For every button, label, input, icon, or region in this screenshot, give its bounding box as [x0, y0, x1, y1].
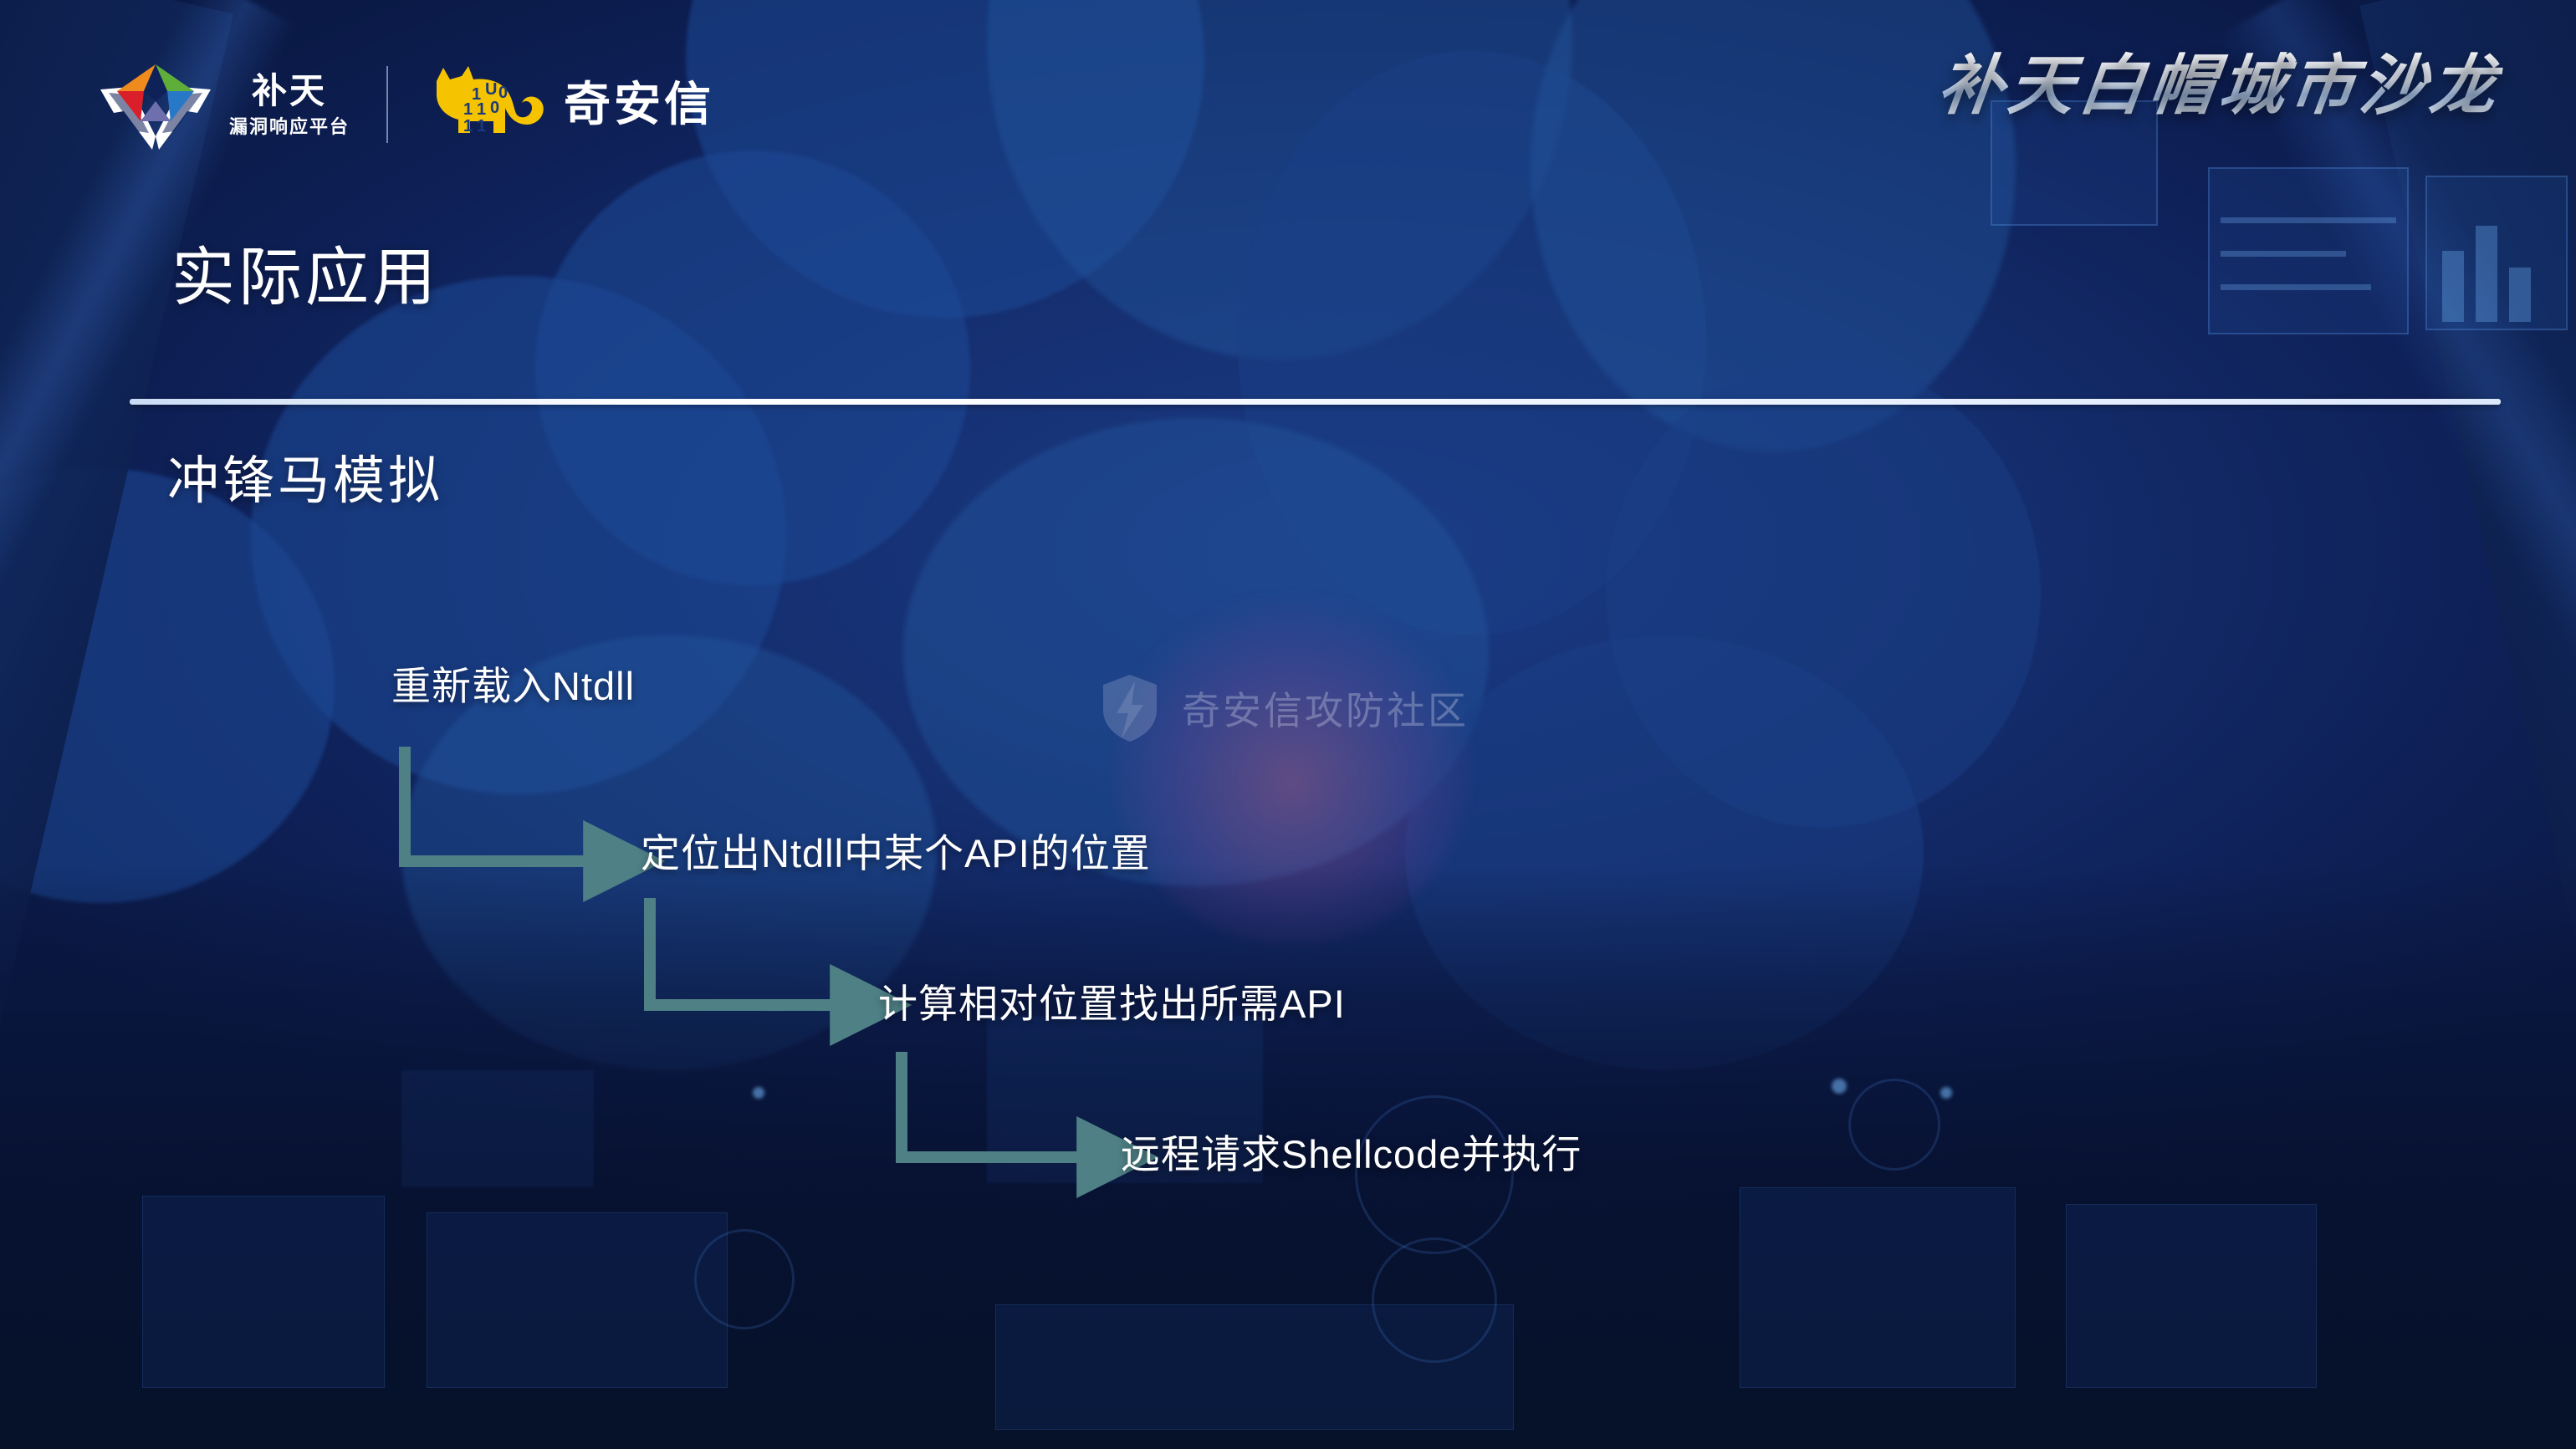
slide-root: 补天 漏洞响应平台 1 U 0 1 1 0 1 1 奇安信 [0, 0, 2576, 1449]
flow-step-3: 计算相对位置找出所需API [878, 981, 1346, 1028]
flow-step-2: 定位出Ntdll中某个API的位置 [641, 830, 1151, 877]
connector-1-2 [405, 747, 585, 861]
flow-step-4: 远程请求Shellcode并执行 [1121, 1131, 1582, 1178]
flow-connectors [0, 0, 2576, 1449]
flow-step-1: 重新载入Ntdll [391, 663, 635, 710]
flow-diagram: 重新载入Ntdll 定位出Ntdll中某个API的位置 计算相对位置找出所需AP… [0, 0, 2576, 1449]
connector-3-4 [902, 1052, 1079, 1157]
connector-2-3 [650, 898, 832, 1005]
